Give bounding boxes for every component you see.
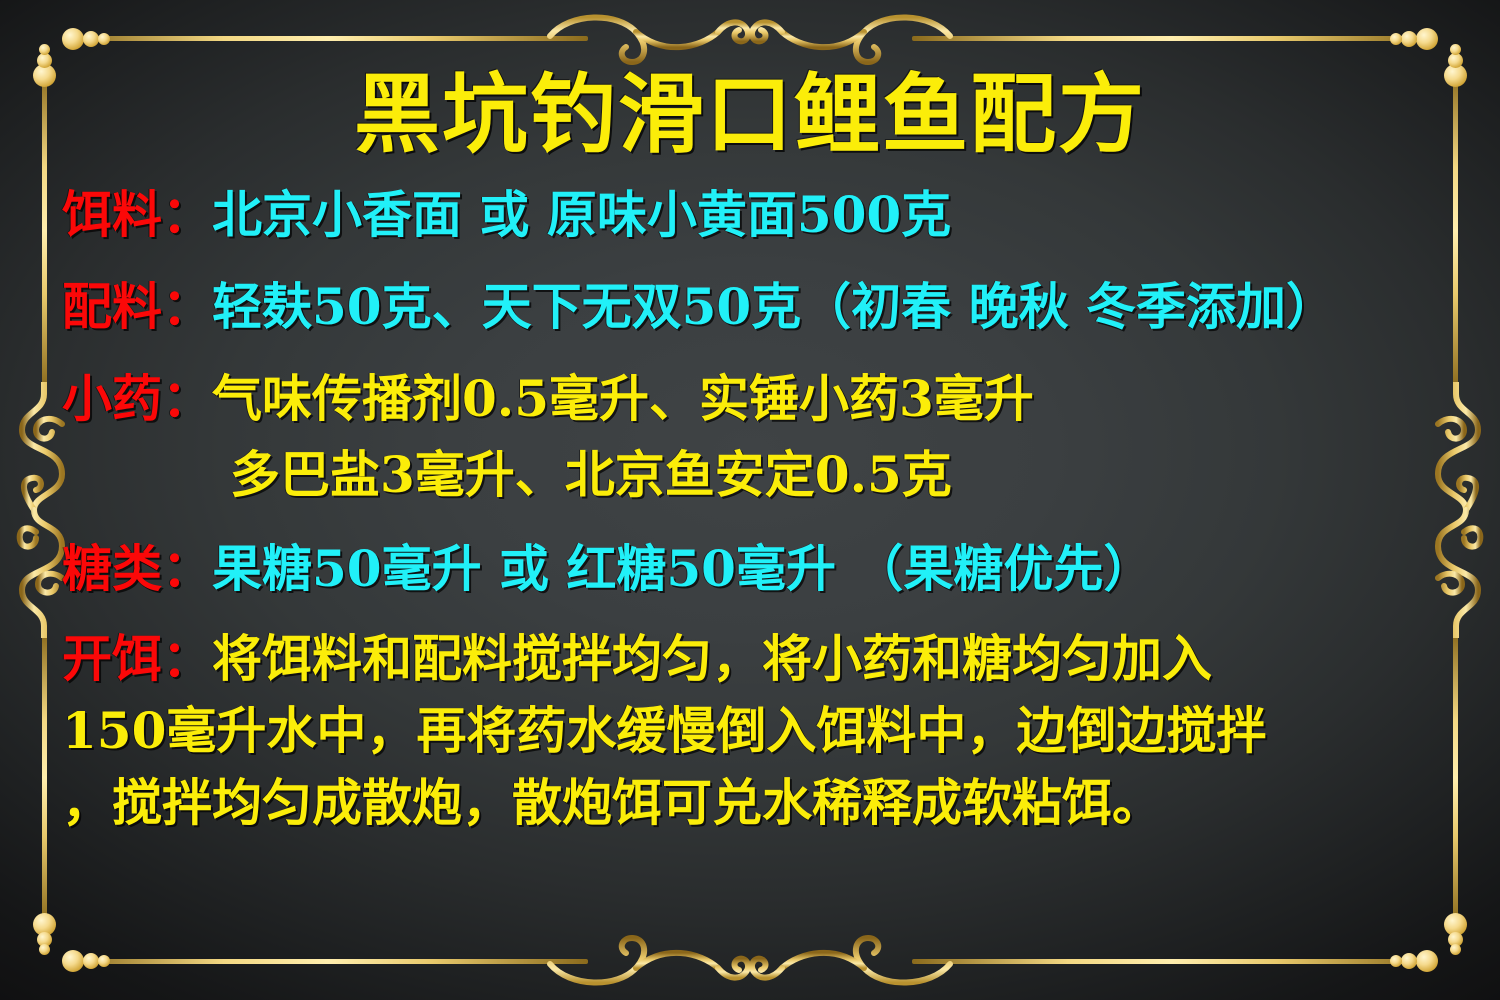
frame-line-right-lower: [1453, 632, 1458, 924]
recipe-label-ingredients: 配料：: [62, 277, 212, 336]
frame-line-top-right: [912, 36, 1432, 41]
recipe-label-mixing: 开饵：: [62, 629, 212, 688]
corner-bead-icon: [1390, 33, 1402, 45]
recipe-value-bait: 北京小香面 或 原味小黄面500克: [212, 185, 951, 244]
recipe-value-additives-1: 气味传播剂0.5毫升、实锤小药3毫升: [212, 369, 1034, 428]
recipe-body: 饵料：北京小香面 或 原味小黄面500克 配料：轻麸50克、天下无双50克（初春…: [62, 190, 1444, 828]
corner-bead-icon: [1401, 953, 1417, 969]
corner-bead-icon: [62, 28, 84, 50]
corner-bead-icon: [98, 33, 110, 45]
corner-bead-icon: [1401, 31, 1417, 47]
recipe-value-ingredients: 轻麸50克、天下无双50克（初春 晚秋 冬季添加）: [212, 277, 1336, 336]
recipe-value-additives-2: 多巴盐3毫升、北京鱼安定0.5克: [230, 445, 952, 504]
recipe-row-mixing-cont2: ，搅拌均匀成散炮，散炮饵可兑水稀释成软粘饵。: [62, 778, 1444, 828]
recipe-value-sugar: 果糖50毫升 或 红糖50毫升 （果糖优先）: [212, 539, 1153, 598]
recipe-label-bait: 饵料：: [62, 185, 212, 244]
corner-bead-icon: [62, 950, 84, 972]
recipe-row-mixing: 开饵：将饵料和配料搅拌均匀，将小药和糖均匀加入: [62, 634, 1444, 684]
recipe-row-bait: 饵料：北京小香面 或 原味小黄面500克: [62, 190, 1444, 240]
recipe-row-mixing-cont1: 150毫升水中，再将药水缓慢倒入饵料中，边倒边搅拌: [62, 706, 1444, 756]
corner-bead-icon: [1450, 44, 1461, 55]
bottom-center-flourish-icon: [540, 932, 960, 994]
page-title: 黑坑钓滑口鲤鱼配方: [0, 72, 1500, 158]
corner-bead-icon: [39, 44, 50, 55]
corner-bead-icon: [1450, 944, 1461, 955]
recipe-value-mixing-3: ，搅拌均匀成散炮，散炮饵可兑水稀释成软粘饵。: [62, 773, 1162, 832]
recipe-row-ingredients: 配料：轻麸50克、天下无双50克（初春 晚秋 冬季添加）: [62, 282, 1444, 332]
corner-bead-icon: [1448, 53, 1463, 68]
corner-bead-icon: [37, 53, 52, 68]
corner-bead-icon: [98, 955, 110, 967]
frame-line-bottom-left: [68, 959, 588, 964]
frame-line-bottom-right: [912, 959, 1432, 964]
recipe-row-additives: 小药：气味传播剂0.5毫升、实锤小药3毫升: [62, 374, 1444, 424]
top-center-flourish-icon: [540, 6, 960, 68]
recipe-label-sugar: 糖类：: [62, 539, 212, 598]
frame-line-top-left: [68, 36, 588, 41]
recipe-row-additives-cont: 多巴盐3毫升、北京鱼安定0.5克: [62, 450, 1444, 500]
corner-bead-icon: [83, 953, 99, 969]
corner-bead-icon: [1416, 950, 1438, 972]
corner-bead-icon: [1416, 28, 1438, 50]
corner-bead-icon: [1390, 955, 1402, 967]
corner-bead-icon: [39, 944, 50, 955]
recipe-value-mixing-2: 150毫升水中，再将药水缓慢倒入饵料中，边倒边搅拌: [62, 701, 1266, 760]
recipe-label-additives: 小药：: [62, 369, 212, 428]
recipe-row-sugar: 糖类：果糖50毫升 或 红糖50毫升 （果糖优先）: [62, 544, 1444, 594]
poster-canvas: 黑坑钓滑口鲤鱼配方 饵料：北京小香面 或 原味小黄面500克 配料：轻麸50克、…: [0, 0, 1500, 1000]
recipe-value-mixing-1: 将饵料和配料搅拌均匀，将小药和糖均匀加入: [212, 629, 1212, 688]
corner-bead-icon: [83, 31, 99, 47]
frame-line-left-lower: [42, 632, 47, 924]
